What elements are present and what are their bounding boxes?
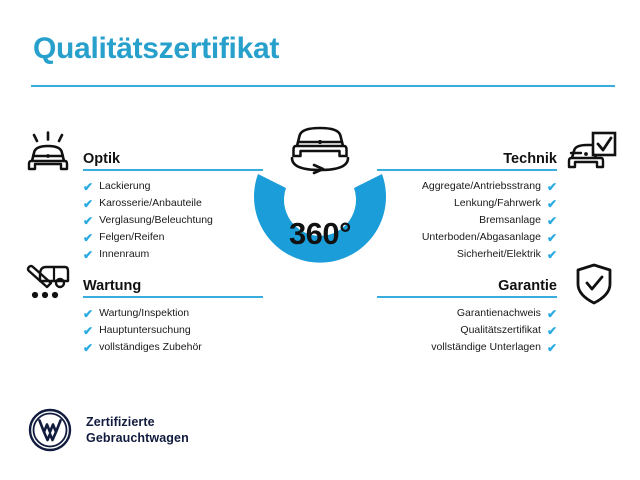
list-item: Garantienachweis✔ (377, 305, 557, 322)
vw-brand-line2: Gebrauchtwagen (86, 430, 189, 446)
check-icon: ✔ (83, 232, 93, 244)
list-item: Lenkung/Fahrwerk✔ (377, 195, 557, 212)
list-item-label: Qualitätszertifikat (460, 322, 541, 339)
list-item-label: Karosserie/Anbauteile (99, 195, 202, 212)
section-technik-divider (377, 169, 557, 171)
list-item-label: Lackierung (99, 178, 150, 195)
page-title: Qualitätszertifikat (33, 32, 279, 66)
list-item-label: Sicherheit/Elektrik (457, 246, 541, 263)
list-item-label: Felgen/Reifen (99, 229, 164, 246)
certificate-page: Qualitätszertifikat Optik ✔Lackierung ✔K… (0, 0, 640, 480)
list-item-label: vollständiges Zubehör (99, 339, 202, 356)
vw-brand-line1: Zertifizierte (86, 414, 189, 430)
check-icon: ✔ (83, 342, 93, 354)
section-wartung-divider (83, 296, 263, 298)
list-item-label: Bremsanlage (479, 212, 541, 229)
list-item: Unterboden/Abgasanlage✔ (377, 229, 557, 246)
section-technik-title: Technik (503, 151, 557, 167)
vw-brand-block: Zertifizierte Gebrauchtwagen (28, 408, 189, 452)
section-garantie-divider (377, 296, 557, 298)
check-icon: ✔ (83, 308, 93, 320)
section-garantie-header: Garantie (377, 272, 557, 298)
section-technik-list: Aggregate/Antriebsstrang✔ Lenkung/Fahrwe… (377, 178, 557, 263)
check-icon: ✔ (83, 249, 93, 261)
list-item-label: Unterboden/Abgasanlage (422, 229, 541, 246)
list-item: vollständige Unterlagen✔ (377, 339, 557, 356)
list-item: ✔Wartung/Inspektion (83, 305, 263, 322)
list-item: Aggregate/Antriebsstrang✔ (377, 178, 557, 195)
car-headlights-icon (24, 131, 72, 173)
check-icon: ✔ (83, 325, 93, 337)
list-item: ✔vollständiges Zubehör (83, 339, 263, 356)
check-icon: ✔ (547, 342, 557, 354)
section-garantie: Garantie Garantienachweis✔ Qualitätszert… (377, 272, 557, 356)
check-icon: ✔ (547, 308, 557, 320)
check-icon: ✔ (547, 198, 557, 210)
section-garantie-title: Garantie (498, 278, 557, 294)
check-icon: ✔ (547, 181, 557, 193)
list-item-label: Verglasung/Beleuchtung (99, 212, 213, 229)
badge-degrees-label: 360° (236, 216, 404, 252)
list-item-label: Lenkung/Fahrwerk (454, 195, 541, 212)
list-item-label: Garantienachweis (457, 305, 541, 322)
check-icon: ✔ (83, 181, 93, 193)
section-optik-title: Optik (83, 151, 120, 167)
check-icon: ✔ (83, 215, 93, 227)
check-icon: ✔ (83, 198, 93, 210)
check-icon: ✔ (547, 325, 557, 337)
car-rotate-icon (283, 118, 357, 178)
section-technik-header: Technik (377, 145, 557, 171)
section-wartung-title: Wartung (83, 278, 141, 294)
car-service-dipstick-icon (24, 259, 72, 301)
shield-check-icon (573, 262, 615, 306)
check-icon: ✔ (547, 232, 557, 244)
check-icon: ✔ (547, 215, 557, 227)
header-divider (31, 85, 615, 87)
list-item: Bremsanlage✔ (377, 212, 557, 229)
section-wartung-list: ✔Wartung/Inspektion ✔Hauptuntersuchung ✔… (83, 305, 263, 356)
section-technik: Technik Aggregate/Antriebsstrang✔ Lenkun… (377, 145, 557, 263)
list-item-label: Wartung/Inspektion (99, 305, 189, 322)
list-item-label: Innenraum (99, 246, 149, 263)
list-item: ✔Hauptuntersuchung (83, 322, 263, 339)
vw-brand-text: Zertifizierte Gebrauchtwagen (86, 414, 189, 446)
list-item-label: Aggregate/Antriebsstrang (422, 178, 541, 195)
list-item-label: vollständige Unterlagen (431, 339, 541, 356)
car-checkbox-icon (566, 131, 618, 173)
list-item: Qualitätszertifikat✔ (377, 322, 557, 339)
list-item: Sicherheit/Elektrik✔ (377, 246, 557, 263)
list-item-label: Hauptuntersuchung (99, 322, 191, 339)
vw-logo-icon (28, 408, 72, 452)
check-icon: ✔ (547, 249, 557, 261)
section-garantie-list: Garantienachweis✔ Qualitätszertifikat✔ v… (377, 305, 557, 356)
360-check-badge: Gebrauchtwagen-Check 360° (236, 118, 404, 290)
